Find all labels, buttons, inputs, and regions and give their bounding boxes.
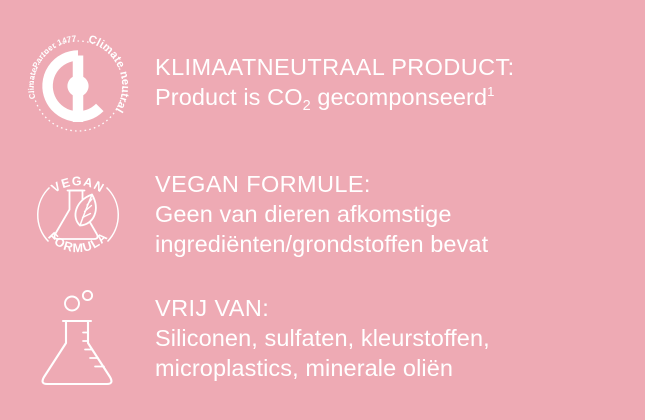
vegan-formula-badge-cell: VEGAN FORMULA [0, 155, 155, 271]
erlenmeyer-flask-icon [42, 321, 111, 384]
claim-body-free-from-line-1: Siliconen, sulfaten, kleurstoffen, [155, 323, 635, 353]
product-claims-panel: ClimatePartner 14777-2005-1001 Climate n… [0, 0, 645, 420]
free-from-text-cell: VRIJ VAN: Siliconen, sulfaten, kleurstof… [155, 283, 645, 383]
climate-badge-claim-label: Climate neutral [86, 33, 130, 114]
claim-title-free-from: VRIJ VAN: [155, 293, 635, 323]
vegan-badge-arc-right [106, 188, 118, 242]
claim-title-vegan-formula: VEGAN FORMULE: [155, 169, 635, 199]
flask-badge-cell [0, 283, 155, 391]
vegan-badge-leaf-icon [75, 195, 95, 226]
claim-body-text-before: Product is CO [155, 84, 303, 110]
claim-body-vegan-line-1: Geen van dieren afkomstige [155, 199, 635, 229]
vegan-formula-badge: VEGAN FORMULA [22, 159, 134, 271]
claim-item-climate-neutral: ClimatePartner 14777-2005-1001 Climate n… [0, 26, 645, 144]
bubble-large-icon [65, 297, 79, 311]
flask-badge [22, 287, 134, 391]
claim-item-free-from: VRIJ VAN: Siliconen, sulfaten, kleurstof… [0, 283, 645, 393]
climate-neutral-badge: ClimatePartner 14777-2005-1001 Climate n… [22, 30, 134, 142]
vegan-badge-arc-left [37, 188, 49, 242]
claim-body-free-from-line-2: microplastics, minerale oliën [155, 353, 635, 383]
climate-partner-mark [47, 56, 99, 123]
claim-item-vegan-formula: VEGAN FORMULA VEGAN FORMULE [0, 155, 645, 280]
claim-title-climate-neutral: KLIMAATNEUTRAAL PRODUCT: [155, 52, 635, 82]
climate-mark-inner-disc [67, 75, 88, 96]
claim-body-text-middle: gecomponseerd [311, 84, 487, 110]
footnote-marker: 1 [487, 84, 494, 99]
vegan-badge-top-label: VEGAN [48, 174, 106, 195]
bubble-small-icon [82, 291, 91, 300]
claim-body-climate-neutral: Product is CO2 gecomponseerd1 [155, 82, 635, 116]
climate-neutral-badge-cell: ClimatePartner 14777-2005-1001 Climate n… [0, 26, 155, 142]
claim-body-vegan-line-2: ingrediënten/grondstoffen bevat [155, 229, 635, 259]
climate-neutral-text-cell: KLIMAATNEUTRAAL PRODUCT: Product is CO2 … [155, 26, 645, 116]
co2-subscript: 2 [303, 98, 311, 114]
vegan-formula-text-cell: VEGAN FORMULE: Geen van dieren afkomstig… [155, 155, 645, 259]
